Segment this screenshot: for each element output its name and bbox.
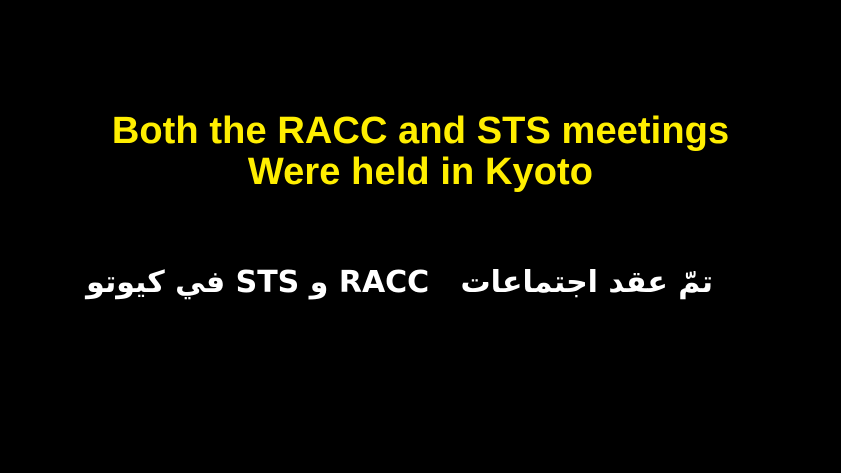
caption-frame: Both the RACC and STS meetings Were held… — [0, 0, 841, 473]
arabic-caption-line-1: تمّ عقد اجتماعات RACC و STS في كيوتو — [86, 265, 713, 300]
english-caption-line-1: Both the RACC and STS meetings — [0, 111, 841, 152]
english-caption-block: Both the RACC and STS meetings Were held… — [0, 111, 841, 193]
arabic-caption-block: تمّ عقد اجتماعات RACC و STS في كيوتو — [0, 226, 841, 340]
english-caption-line-2: Were held in Kyoto — [0, 152, 841, 193]
